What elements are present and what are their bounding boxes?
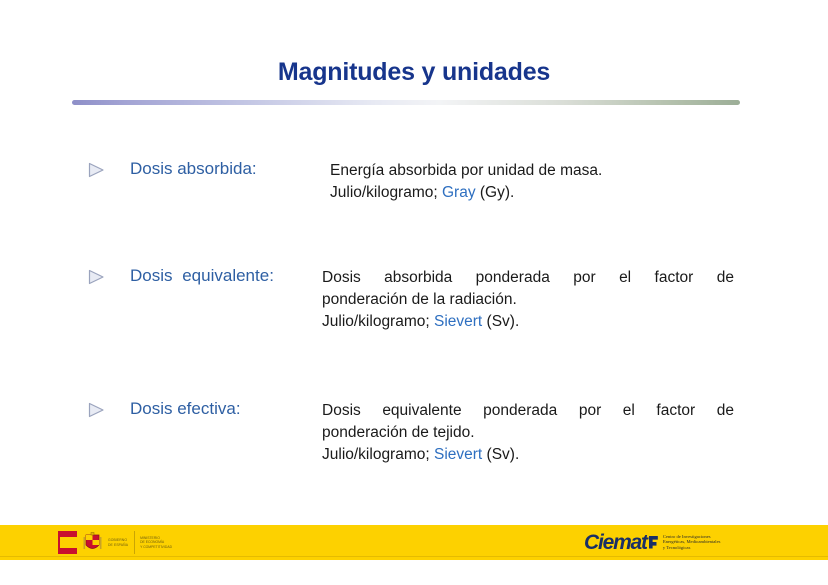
body-line: Julio/kilogramo; Gray (Gy). <box>330 182 730 204</box>
gobierno-logo-text: GOBIERNO DE ESPAÑA <box>108 538 128 547</box>
body-line: ponderación de la radiación. <box>322 289 734 311</box>
spain-flag-icon <box>58 531 77 554</box>
bullet-body-dosis-equivalente: Dosis absorbida ponderada por el factor … <box>322 267 734 333</box>
bullet-label-dosis-absorbida: Dosis absorbida: <box>130 159 257 179</box>
body-line: Energía absorbida por unidad de masa. <box>330 160 730 182</box>
spain-coat-of-arms-icon <box>82 531 103 554</box>
ciemat-mark-icon <box>649 536 658 549</box>
ciemat-wordmark: Ciemat <box>584 532 647 553</box>
body-line: ponderación de tejido. <box>322 422 734 444</box>
unit-highlight-gray: Gray <box>442 184 476 201</box>
ministerio-line-3: Y COMPETITIVIDAD <box>140 545 172 549</box>
title-divider-bar <box>72 100 740 105</box>
bullet-body-dosis-efectiva: Dosis equivalente ponderada por el facto… <box>322 400 734 466</box>
ministerio-logo-text: MINISTERIO DE ECONOMÍA Y COMPETITIVIDAD <box>140 536 172 549</box>
body-line-post: (Sv). <box>482 313 519 330</box>
body-line: Julio/kilogramo; Sievert (Sv). <box>322 444 734 466</box>
ciemat-sub-line-1: Centro de Investigaciones <box>663 534 711 539</box>
body-line-pre: Julio/kilogramo; <box>322 446 434 463</box>
ciemat-sub-line-3: y Tecnológicas <box>663 545 691 550</box>
body-line: Dosis equivalente ponderada por el facto… <box>322 400 734 422</box>
gobierno-line-1: GOBIERNO <box>108 538 127 542</box>
body-line-post: (Gy). <box>476 184 515 201</box>
ministerio-line-1: MINISTERIO <box>140 536 160 540</box>
ciemat-sub-line-2: Energéticas, Medioambientales <box>663 539 721 544</box>
ministerio-line-2: DE ECONOMÍA <box>140 540 164 544</box>
slide-canvas: Magnitudes y unidades Dosis absorbida: E… <box>0 0 828 585</box>
unit-highlight-sievert: Sievert <box>434 313 482 330</box>
gobierno-line-2: DE ESPAÑA <box>108 543 128 547</box>
unit-highlight-sievert: Sievert <box>434 446 482 463</box>
gobierno-de-espana-logo: GOBIERNO DE ESPAÑA MINISTERIO DE ECONOMÍ… <box>58 531 172 554</box>
page-title: Magnitudes y unidades <box>0 58 828 87</box>
logo-divider <box>134 531 135 554</box>
body-line: Julio/kilogramo; Sievert (Sv). <box>322 311 734 333</box>
body-line-pre: Julio/kilogramo; <box>322 313 434 330</box>
bullet-label-dosis-equivalente: Dosis equivalente: <box>130 266 316 286</box>
bullet-body-dosis-absorbida: Energía absorbida por unidad de masa. Ju… <box>330 160 730 204</box>
body-line-post: (Sv). <box>482 446 519 463</box>
body-line: Dosis absorbida ponderada por el factor … <box>322 267 734 289</box>
bullet-label-dosis-efectiva: Dosis efectiva: <box>130 399 241 419</box>
ciemat-logo: Ciemat Centro de Investigaciones Energét… <box>584 530 720 554</box>
body-line-pre: Julio/kilogramo; <box>330 184 442 201</box>
ciemat-subtitle: Centro de Investigaciones Energéticas, M… <box>663 534 721 551</box>
